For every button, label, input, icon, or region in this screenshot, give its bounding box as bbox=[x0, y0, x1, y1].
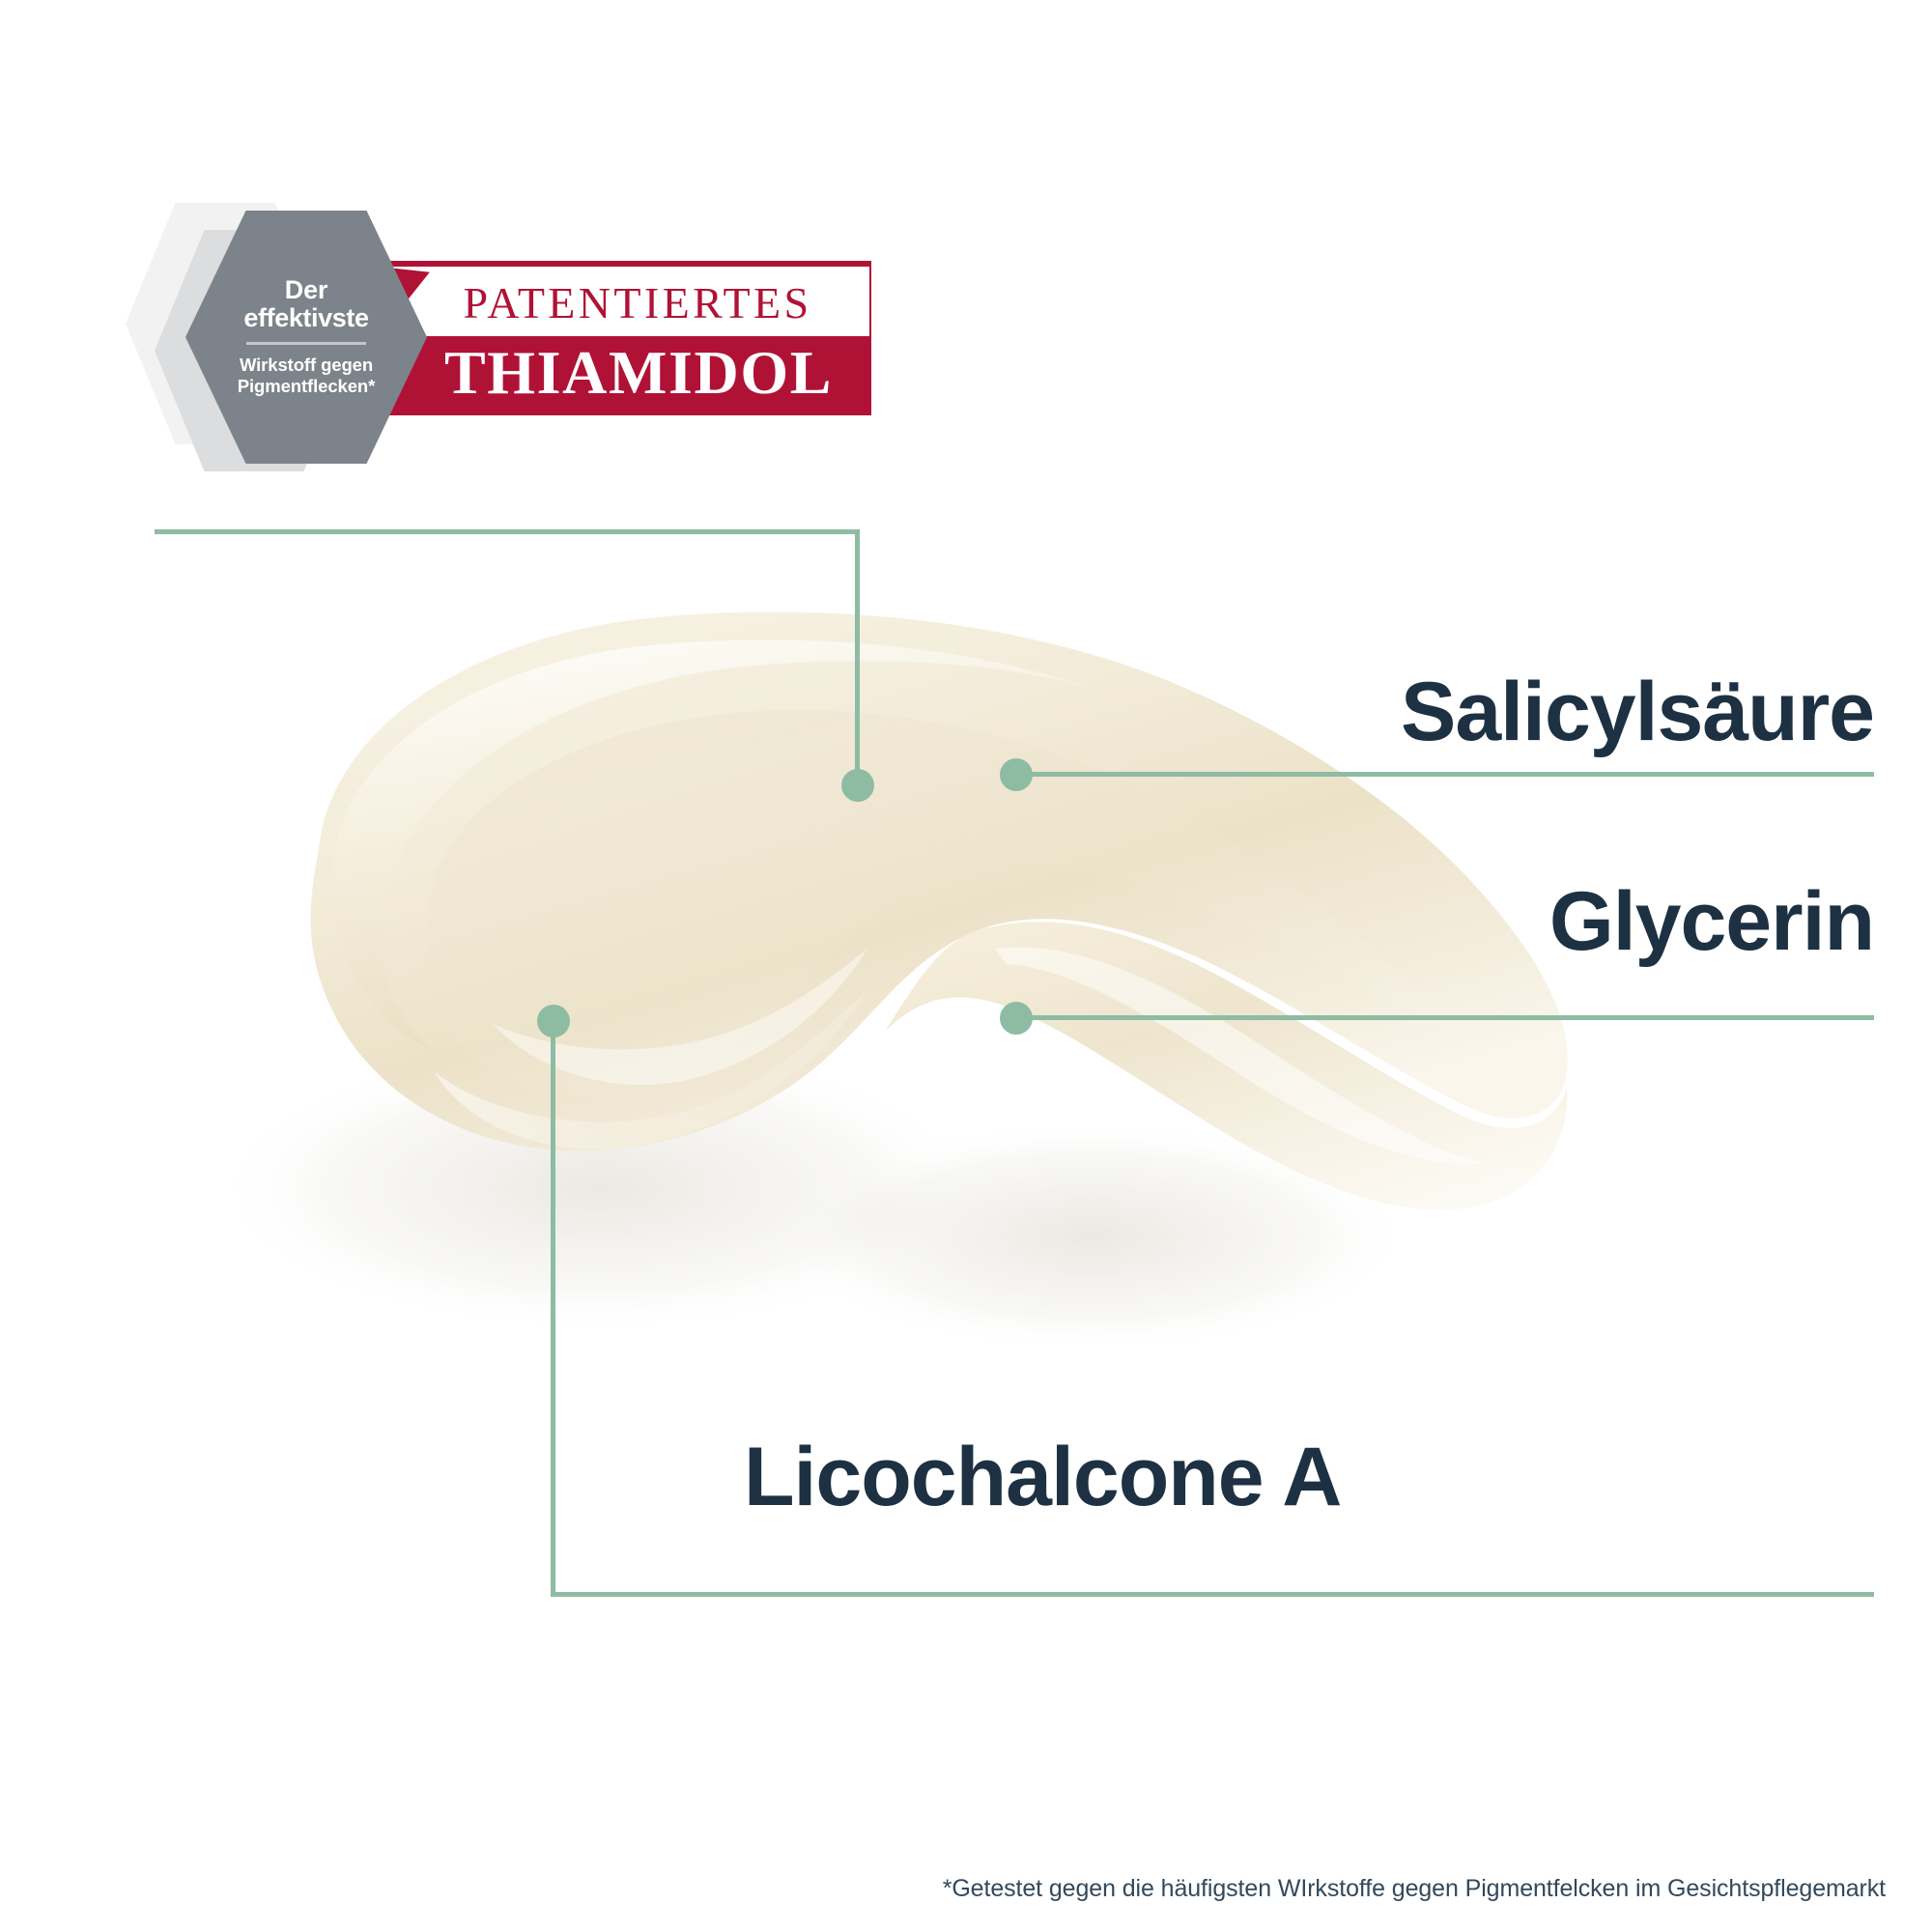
connector-line-licochalcone-vertical bbox=[551, 1021, 555, 1596]
ingredient-label-salicylsaeure: Salicylsäure bbox=[1401, 665, 1874, 760]
connector-line-glycerin bbox=[1016, 1015, 1874, 1020]
seal-line-1: Der bbox=[285, 276, 327, 304]
ingredient-label-licochalcone: Licochalcone A bbox=[744, 1430, 1341, 1525]
seal-text-block: Der effektivste Wirkstoff gegen Pigmentf… bbox=[185, 211, 427, 464]
ingredient-label-glycerin: Glycerin bbox=[1549, 874, 1874, 970]
seal-sub-line-1: Wirkstoff gegen bbox=[240, 355, 373, 377]
seal-line-2: effektivste bbox=[243, 304, 368, 332]
product-ingredient-infographic: PATENTIERTES THIAMIDOL Der effektivste W… bbox=[0, 0, 1932, 1932]
cream-swatch-image bbox=[145, 570, 1575, 1362]
footnote-text: *Getestet gegen die häufigsten WIrkstoff… bbox=[943, 1875, 1886, 1903]
seal-sub-line-2: Pigmentflecken* bbox=[238, 376, 375, 398]
connector-line-licochalcone-horizontal bbox=[551, 1592, 1874, 1597]
seal-divider bbox=[246, 342, 366, 345]
connector-dot-seal bbox=[841, 769, 874, 802]
banner-thiamidol-label: THIAMIDOL bbox=[415, 338, 862, 408]
connector-seal-vertical bbox=[855, 529, 860, 785]
banner-patentiertes-label: PATENTIERTES bbox=[415, 274, 860, 330]
thiamidol-seal: PATENTIERTES THIAMIDOL Der effektivste W… bbox=[126, 203, 869, 444]
connector-line-salicylsaeure bbox=[1016, 772, 1874, 777]
connector-seal-horizontal bbox=[155, 529, 860, 534]
